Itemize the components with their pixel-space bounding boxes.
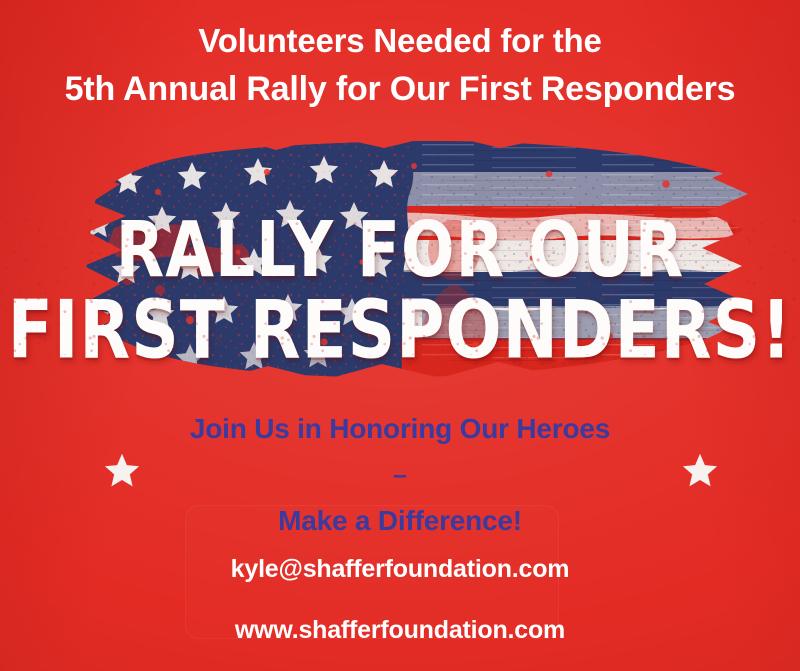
call-to-action: Join Us in Honoring Our Heroes – Make a … bbox=[0, 414, 800, 537]
contact-website[interactable]: www.shafferfoundation.com bbox=[0, 616, 800, 645]
cta-line-1: Join Us in Honoring Our Heroes bbox=[0, 414, 800, 445]
headline: Volunteers Needed for the 5th Annual Ral… bbox=[0, 18, 800, 113]
headline-line-1: Volunteers Needed for the bbox=[0, 18, 800, 65]
usa-flag-grunge-graphic bbox=[62, 132, 752, 384]
cta-line-2: Make a Difference! bbox=[0, 506, 800, 537]
cta-separator-dash: – bbox=[0, 463, 800, 488]
headline-line-2: 5th Annual Rally for Our First Responder… bbox=[0, 65, 800, 113]
poster-canvas: Volunteers Needed for the 5th Annual Ral… bbox=[0, 0, 800, 671]
contact-email[interactable]: kyle@shafferfoundation.com bbox=[0, 555, 800, 584]
